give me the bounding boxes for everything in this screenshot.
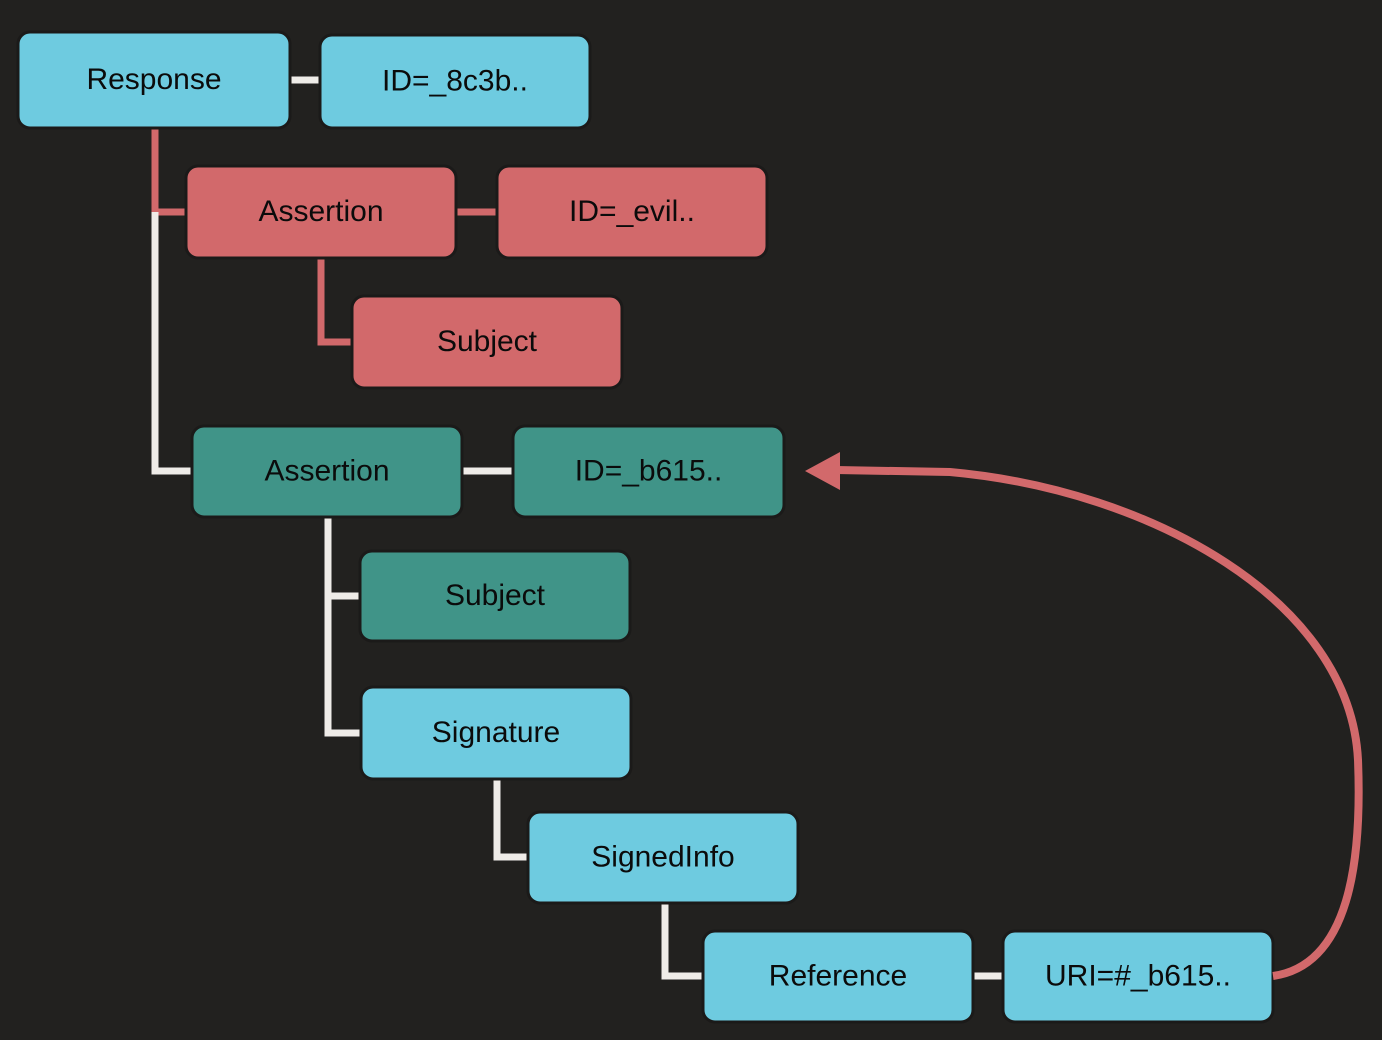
reference-arrowhead-icon	[805, 452, 840, 490]
node-box-assertion_good[interactable]	[192, 426, 462, 517]
node-id_b615[interactable]: ID=_b615..	[513, 426, 784, 517]
node-box-subject_evil[interactable]	[352, 296, 622, 388]
node-response[interactable]: Response	[18, 32, 290, 128]
node-signedinfo[interactable]: SignedInfo	[528, 812, 798, 903]
edge-response-to-assertion-evil	[155, 128, 186, 212]
node-box-signedinfo[interactable]	[528, 812, 798, 903]
node-assertion_evil[interactable]: Assertion	[186, 166, 456, 258]
node-id_8c3b[interactable]: ID=_8c3b..	[320, 35, 590, 128]
node-signature[interactable]: Signature	[361, 687, 631, 779]
edge-signedinfo-to-reference	[665, 903, 703, 976]
reference-arrow-layer	[805, 452, 1359, 976]
node-reference[interactable]: Reference	[703, 931, 973, 1022]
edge-assertion-good-to-subject	[328, 517, 360, 596]
node-subject_good[interactable]: Subject	[360, 551, 630, 641]
node-box-reference[interactable]	[703, 931, 973, 1022]
node-box-id_evil[interactable]	[497, 166, 767, 258]
reference-arrow-curve	[836, 470, 1359, 976]
diagram-canvas: ResponseID=_8c3b..AssertionID=_evil..Sub…	[0, 0, 1382, 1040]
edge-assertion-evil-to-subject	[321, 258, 352, 342]
node-id_evil[interactable]: ID=_evil..	[497, 166, 767, 258]
node-box-assertion_evil[interactable]	[186, 166, 456, 258]
node-box-id_b615[interactable]	[513, 426, 784, 517]
node-uri_b615[interactable]: URI=#_b615..	[1003, 931, 1273, 1022]
nodes-layer: ResponseID=_8c3b..AssertionID=_evil..Sub…	[18, 32, 1273, 1022]
node-box-id_8c3b[interactable]	[320, 35, 590, 128]
node-box-signature[interactable]	[361, 687, 631, 779]
xml-signature-wrapping-tree: ResponseID=_8c3b..AssertionID=_evil..Sub…	[0, 0, 1382, 1040]
node-subject_evil[interactable]: Subject	[352, 296, 622, 388]
edge-signature-to-signedinfo	[497, 779, 528, 857]
node-box-response[interactable]	[18, 32, 290, 128]
node-box-subject_good[interactable]	[360, 551, 630, 641]
node-box-uri_b615[interactable]	[1003, 931, 1273, 1022]
edge-assertion-good-to-signature	[328, 596, 361, 733]
node-assertion_good[interactable]: Assertion	[192, 426, 462, 517]
